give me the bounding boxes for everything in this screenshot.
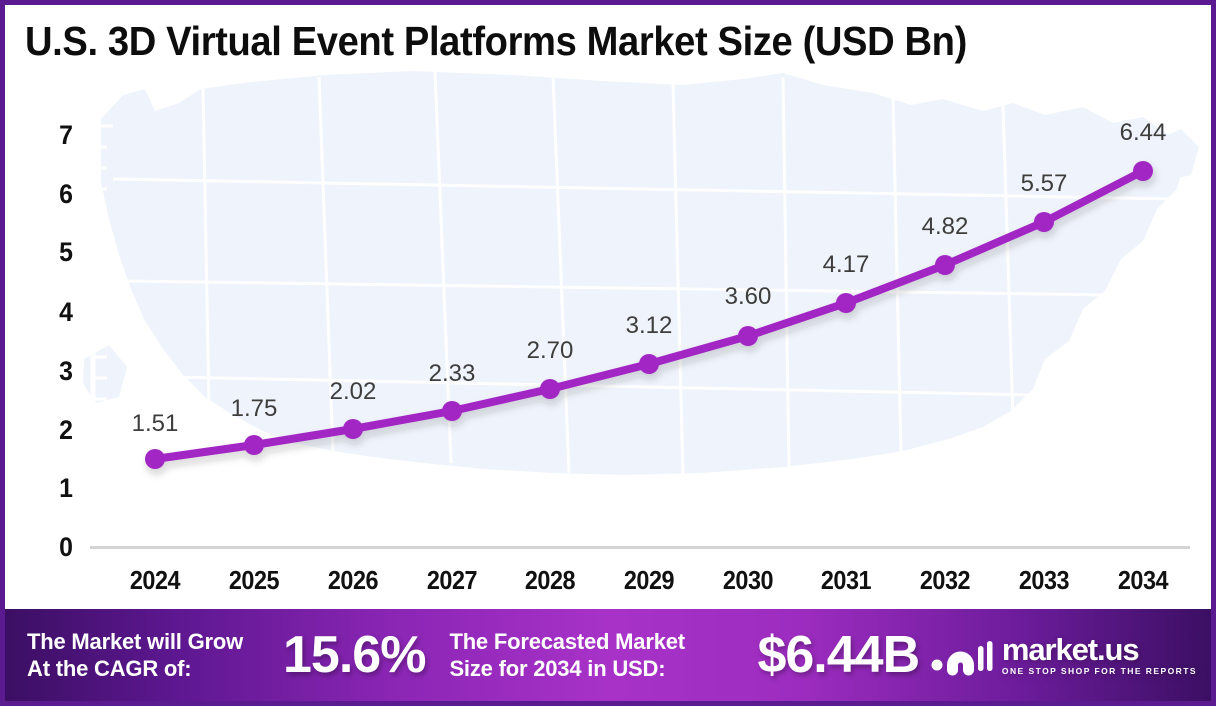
- logo-text-block: market.us ONE STOP SHOP FOR THE REPORTS: [1002, 635, 1197, 676]
- data-label-2034: 6.44: [1088, 119, 1198, 147]
- logo-wordmark: market.us: [1002, 635, 1197, 665]
- cagr-caption: The Market will Grow At the CAGR of:: [27, 628, 277, 682]
- data-label-2030: 3.60: [693, 283, 803, 311]
- logo-bar-2: [987, 641, 993, 671]
- forecast-caption: The Forecasted Market Size for 2034 in U…: [449, 628, 749, 682]
- data-label-2029: 3.12: [594, 312, 704, 340]
- forecast-value: $6.44B: [757, 625, 919, 685]
- logo-arch: [947, 652, 974, 676]
- footer-summary-bar: The Market will Grow At the CAGR of: 15.…: [5, 609, 1211, 701]
- data-label-2024: 1.51: [100, 410, 210, 438]
- data-label-2026: 2.02: [298, 378, 408, 406]
- data-label-2031: 4.17: [791, 251, 901, 279]
- chart-area: 7 6 5 4 3 2 1 0 2024 2025 2026 2027 2028…: [5, 65, 1211, 611]
- logo-tagline: ONE STOP SHOP FOR THE REPORTS: [1002, 666, 1197, 676]
- data-label-2028: 2.70: [495, 337, 605, 365]
- plot-layer: 7 6 5 4 3 2 1 0 2024 2025 2026 2027 2028…: [5, 65, 1211, 611]
- infographic-chart-card: U.S. 3D Virtual Event Platforms Market S…: [0, 0, 1216, 706]
- data-label-2033: 5.57: [989, 170, 1099, 198]
- data-label-2032: 4.82: [890, 213, 1000, 241]
- data-label-2027: 2.33: [397, 360, 507, 388]
- cagr-value: 15.6%: [283, 625, 425, 685]
- market-us-logo-mark: [931, 634, 993, 676]
- page-title: U.S. 3D Virtual Event Platforms Market S…: [25, 13, 1085, 69]
- data-label-2025: 1.75: [199, 395, 309, 423]
- logo-bar-1: [978, 646, 984, 671]
- logo-dot: [931, 660, 942, 671]
- market-us-logo[interactable]: market.us ONE STOP SHOP FOR THE REPORTS: [931, 634, 1197, 676]
